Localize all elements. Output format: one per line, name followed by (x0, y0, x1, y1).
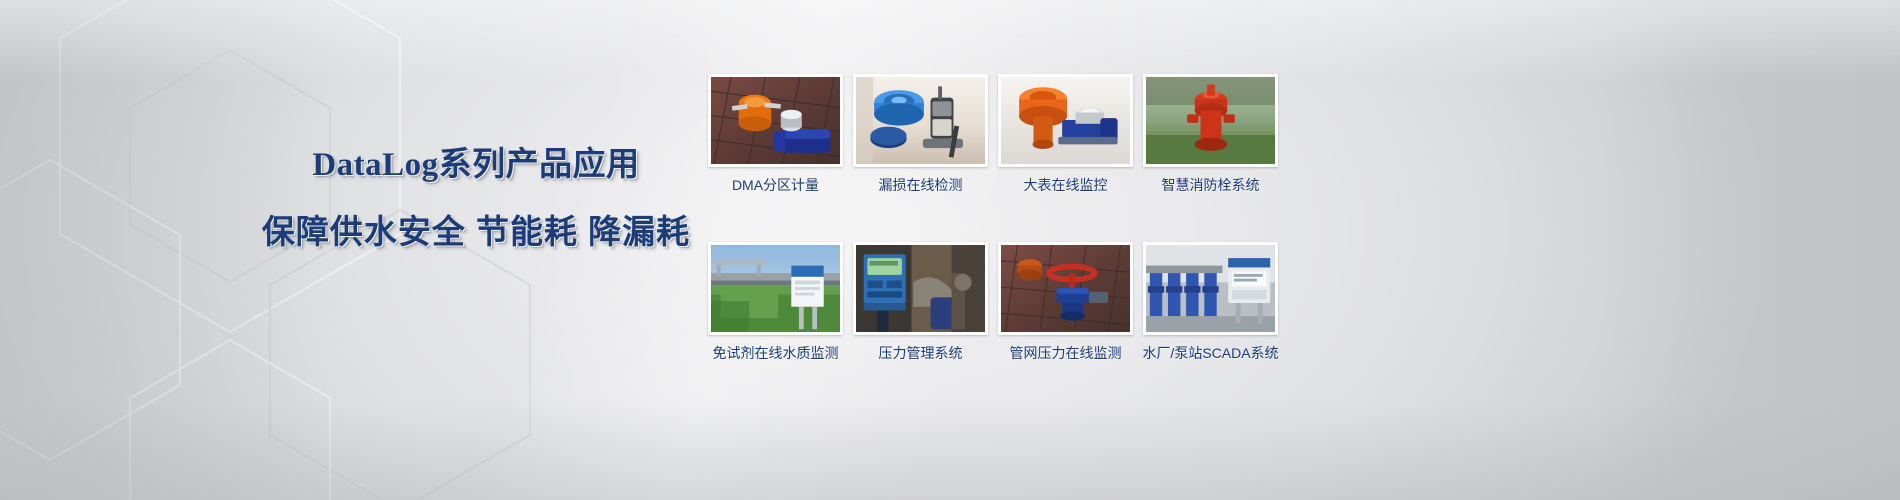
product-caption: 智慧消防栓系统 (1138, 175, 1283, 195)
headline-line-1-cjk: 系列产品应用 (439, 145, 640, 182)
product-caption: 管网压力在线监测 (993, 343, 1138, 363)
headline-line-2: 保障供水安全 节能耗 降漏耗 (246, 212, 706, 252)
thumb-frame (708, 74, 843, 167)
product-tiles-row-2: 免试剂在线水质监测 (703, 242, 1283, 363)
product-tile-pipeline-pressure[interactable]: 管网压力在线监测 (993, 242, 1138, 363)
product-caption: 漏损在线检测 (848, 175, 993, 195)
product-tile-pressure-management[interactable]: 压力管理系统 (848, 242, 993, 363)
dma-flow-meter-photo (711, 77, 840, 164)
product-caption: 免试剂在线水质监测 (703, 343, 848, 363)
thumb-frame (708, 242, 843, 335)
thumb-frame (853, 242, 988, 335)
product-tile-dma[interactable]: DMA分区计量 (703, 74, 848, 195)
product-tile-leak-detection[interactable]: 漏损在线检测 (848, 74, 993, 195)
waterworks-scada-photo (1146, 245, 1275, 332)
headline-block: DataLog系列产品应用 保障供水安全 节能耗 降漏耗 (246, 144, 706, 252)
product-caption: 大表在线监控 (993, 175, 1138, 195)
product-caption: 压力管理系统 (848, 343, 993, 363)
product-tile-water-quality[interactable]: 免试剂在线水质监测 (703, 242, 848, 363)
pressure-management-cabinet-photo (856, 245, 985, 332)
pipeline-pressure-valve-photo (1001, 245, 1130, 332)
product-caption: DMA分区计量 (703, 175, 848, 195)
thumb-frame (1143, 74, 1278, 167)
large-meter-monitor-photo (1001, 77, 1130, 164)
thumb-frame (853, 74, 988, 167)
product-tiles-row-1: DMA分区计量 (703, 74, 1283, 195)
thumb-frame (998, 74, 1133, 167)
smart-fire-hydrant-photo (1146, 77, 1275, 164)
product-tile-scada[interactable]: 水厂/泵站SCADA系统 (1138, 242, 1283, 363)
reagent-free-water-quality-photo (711, 245, 840, 332)
product-application-banner: DataLog系列产品应用 保障供水安全 节能耗 降漏耗 (0, 0, 1900, 500)
product-tile-fire-hydrant[interactable]: 智慧消防栓系统 (1138, 74, 1283, 195)
thumb-frame (998, 242, 1133, 335)
product-caption: 水厂/泵站SCADA系统 (1138, 343, 1283, 363)
headline-line-1-latin: DataLog (312, 147, 438, 183)
product-tile-large-meter[interactable]: 大表在线监控 (993, 74, 1138, 195)
thumb-frame (1143, 242, 1278, 335)
product-tiles-grid: DMA分区计量 (703, 74, 1283, 363)
leak-detection-logger-photo (856, 77, 985, 164)
headline-line-1: DataLog系列产品应用 (246, 144, 706, 185)
